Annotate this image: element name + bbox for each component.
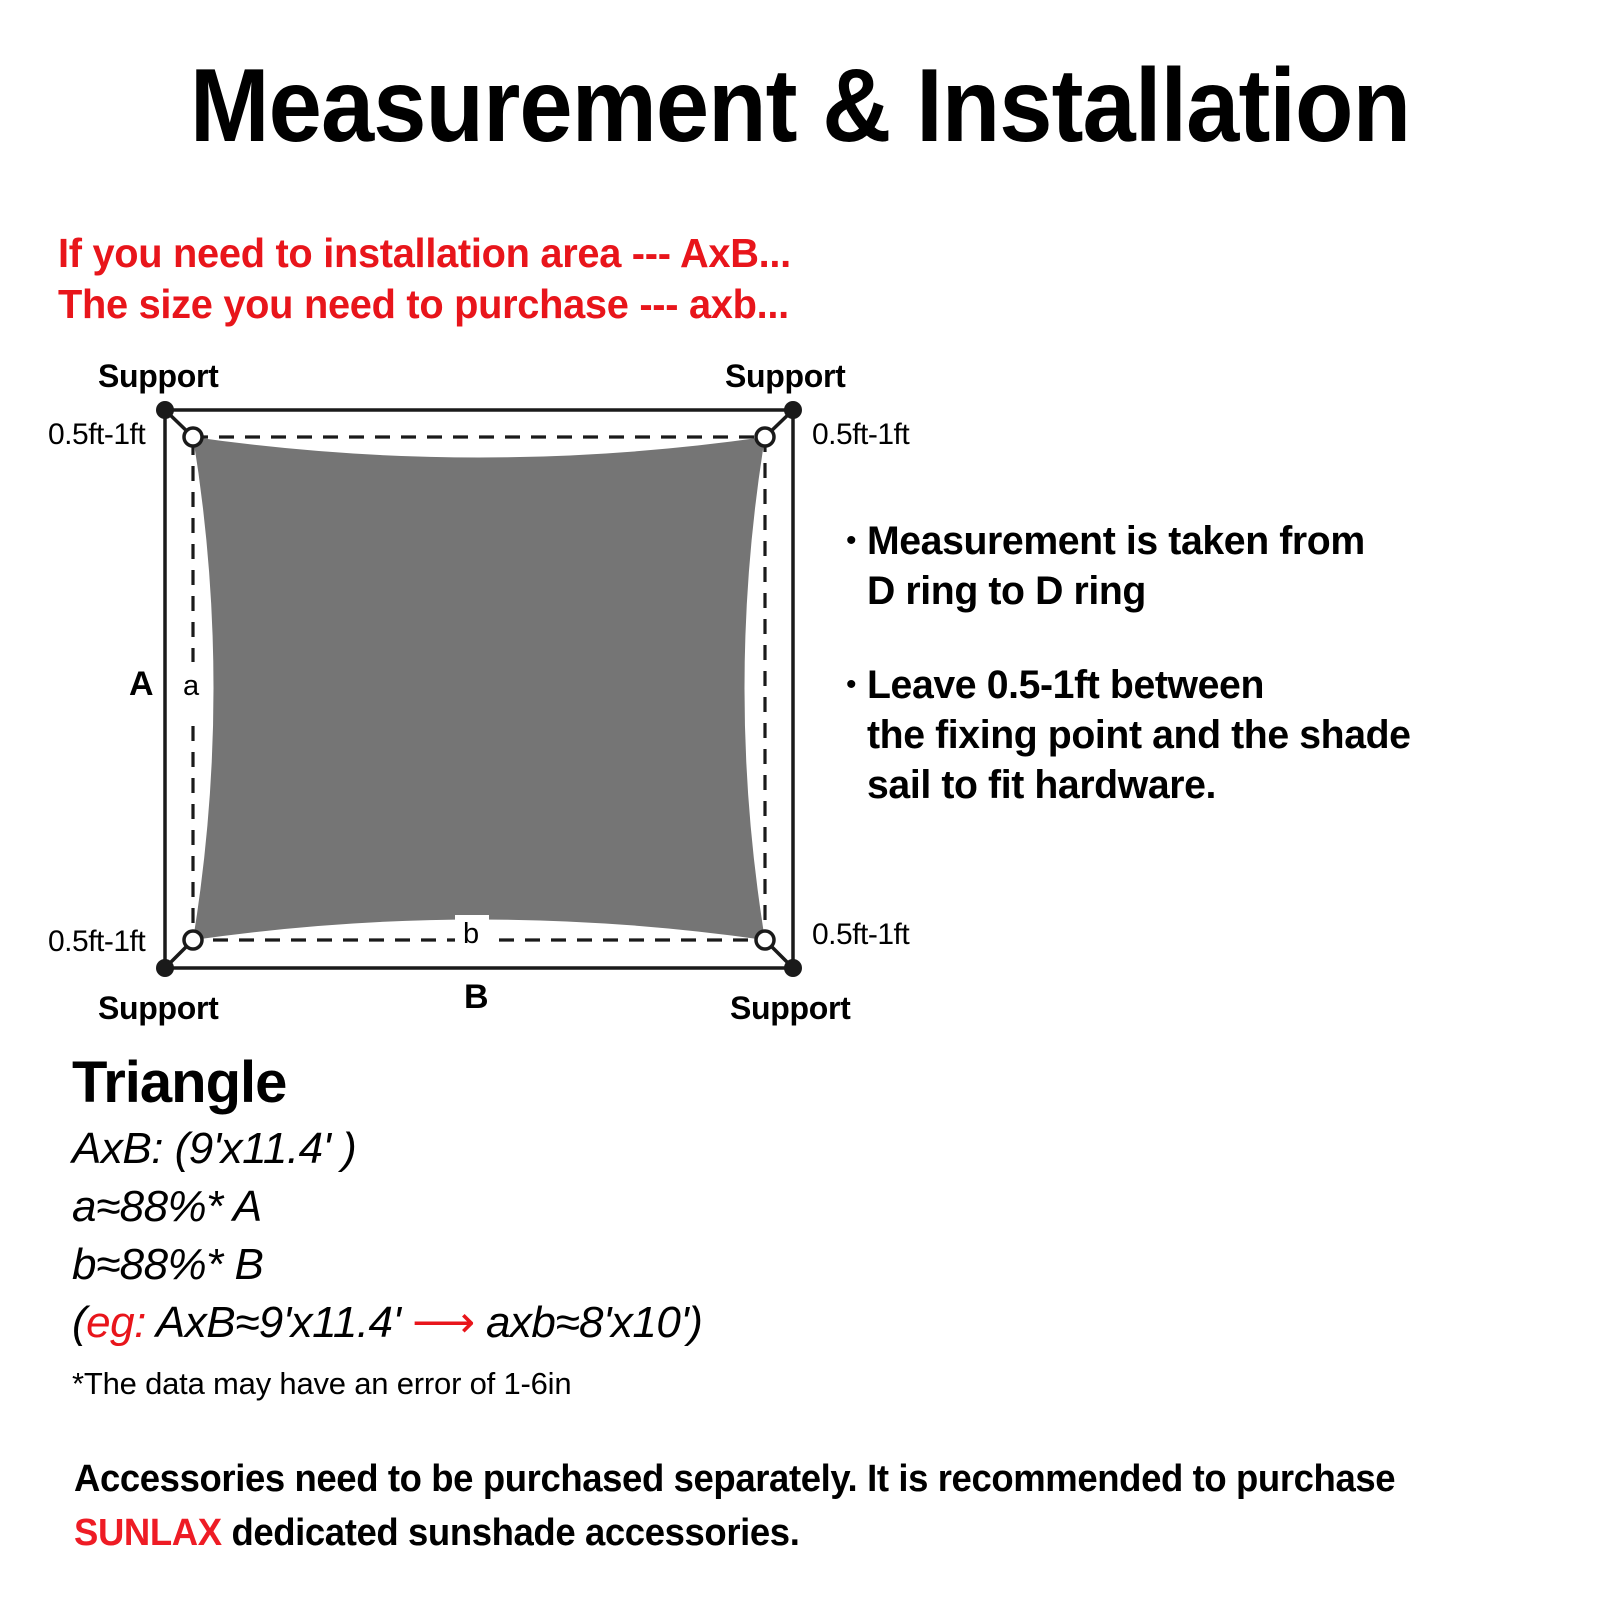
bullet-dot-icon: • xyxy=(846,516,857,566)
label-outer-width-B: B xyxy=(464,978,489,1017)
label-gap-bottom-left: 0.5ft-1ft xyxy=(48,925,145,959)
label-support-top-right: Support xyxy=(725,358,846,395)
size-spec-block: Triangle AxB: (9'x11.4' ) a≈88%* A b≈88%… xyxy=(72,1050,972,1408)
spec-dimensions: AxB: (9'x11.4' ) xyxy=(72,1120,972,1178)
spec-example-open: ( xyxy=(72,1298,86,1347)
spec-example: (eg: AxB≈9'x11.4' ⟶ axb≈8'x10') xyxy=(72,1294,972,1352)
label-gap-bottom-right: 0.5ft-1ft xyxy=(812,918,909,952)
support-point-top-left xyxy=(156,401,174,419)
note-2-line-3: sail to fit hardware. xyxy=(867,763,1216,807)
intro-line-2: The size you need to purchase --- axb... xyxy=(58,279,791,330)
note-2-line-2: the fixing point and the shade xyxy=(867,713,1411,757)
note-item-2-text: Leave 0.5-1ft between the fixing point a… xyxy=(867,660,1411,810)
note-1-line-1: Measurement is taken from xyxy=(867,519,1365,563)
page-title: Measurement & Installation xyxy=(64,52,1536,161)
label-inner-width-b: b xyxy=(463,918,479,951)
label-support-top-left: Support xyxy=(98,358,219,395)
spec-formula-a: a≈88%* A xyxy=(72,1178,972,1236)
spec-formula-b: b≈88%* B xyxy=(72,1236,972,1294)
note-1-line-2: D ring to D ring xyxy=(867,569,1146,613)
shade-sail-shape xyxy=(193,437,765,940)
footer-line-2: SUNLAX dedicated sunshade accessories. xyxy=(74,1506,1514,1560)
d-ring-top-left xyxy=(184,428,202,446)
note-item-2: • Leave 0.5-1ft between the fixing point… xyxy=(846,660,1586,810)
note-item-1: • Measurement is taken from D ring to D … xyxy=(846,516,1586,616)
spec-title: Triangle xyxy=(72,1050,972,1116)
arrow-right-icon: ⟶ xyxy=(412,1298,474,1347)
spec-example-left: AxB≈9'x11.4' xyxy=(146,1298,412,1347)
footer-line-2-rest: dedicated sunshade accessories. xyxy=(222,1512,800,1554)
label-support-bottom-left: Support xyxy=(98,990,219,1027)
spec-example-eg: eg: xyxy=(86,1298,146,1347)
label-gap-top-left: 0.5ft-1ft xyxy=(48,418,145,452)
label-outer-height-A: A xyxy=(129,665,154,704)
intro-note: If you need to installation area --- AxB… xyxy=(58,228,791,330)
note-2-line-1: Leave 0.5-1ft between xyxy=(867,663,1264,707)
spec-example-right: axb≈8'x10') xyxy=(474,1298,702,1347)
support-point-bottom-right xyxy=(784,959,802,977)
d-ring-top-right xyxy=(756,428,774,446)
bullet-dot-icon: • xyxy=(846,660,857,710)
note-item-1-text: Measurement is taken from D ring to D ri… xyxy=(867,516,1365,616)
label-gap-top-right: 0.5ft-1ft xyxy=(812,418,909,452)
intro-line-1: If you need to installation area --- AxB… xyxy=(58,228,791,279)
d-ring-bottom-left xyxy=(184,931,202,949)
d-ring-bottom-right xyxy=(756,931,774,949)
support-point-top-right xyxy=(784,401,802,419)
label-support-bottom-right: Support xyxy=(730,990,851,1027)
spec-error-note: *The data may have an error of 1-6in xyxy=(72,1360,972,1408)
brand-name: SUNLAX xyxy=(74,1512,222,1554)
accessories-footer: Accessories need to be purchased separat… xyxy=(74,1452,1514,1560)
label-inner-height-a: a xyxy=(183,670,199,703)
footer-line-1: Accessories need to be purchased separat… xyxy=(74,1452,1514,1506)
notes-list: • Measurement is taken from D ring to D … xyxy=(846,516,1586,854)
infographic-page: Measurement & Installation If you need t… xyxy=(0,0,1600,1600)
support-point-bottom-left xyxy=(156,959,174,977)
